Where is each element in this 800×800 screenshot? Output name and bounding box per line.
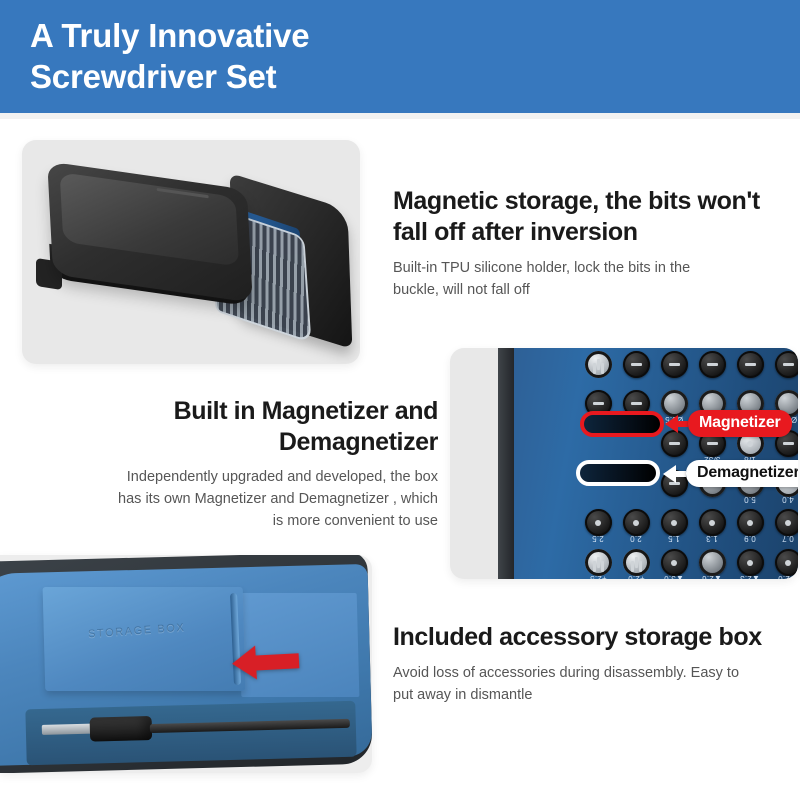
callout-label: Magnetizer <box>688 410 792 437</box>
bit-label: ▲2.0 <box>778 574 798 579</box>
bit-label: ▲3.0 <box>664 574 684 579</box>
arrow-tail-shape <box>255 653 300 670</box>
storage-lid-shape <box>43 587 246 691</box>
photo-storage-box: STORAGE BOX <box>0 555 372 773</box>
callout-magnetizer: Magnetizer <box>665 410 792 437</box>
bit-cell: ▲3.0 <box>656 544 692 579</box>
bit-label: 5.0 <box>744 495 756 504</box>
bit-label: 1.3 <box>706 534 718 543</box>
bit-cell: ▲2.0 <box>770 544 798 579</box>
bit-label: 0.7 <box>782 534 794 543</box>
bit-cell: ▲2.3 <box>732 544 768 579</box>
bit-cell <box>618 348 654 383</box>
bit-label: ▲2.3 <box>740 574 760 579</box>
section-heading: Magnetic storage, the bits won't fall of… <box>393 186 785 248</box>
bit-cell: 0.7 <box>770 505 798 542</box>
arrow-tail-shape <box>674 471 686 477</box>
driver-slot-shape <box>25 701 356 766</box>
section-body: Independently upgraded and developed, th… <box>48 466 438 532</box>
section-heading: Included accessory storage box <box>393 622 785 653</box>
case-seam-shape <box>156 188 208 198</box>
driver-shaft-shape <box>42 724 94 735</box>
bit-label: 4.0 <box>782 495 794 504</box>
driver-handle-shape <box>90 716 153 742</box>
bit-cell <box>694 348 730 383</box>
page-header: A Truly Innovative Screwdriver Set <box>0 0 800 113</box>
magnetizer-slot <box>580 411 664 437</box>
bit-cell: 1.3 <box>694 505 730 542</box>
bit-tray-shape: Ø5.5 Ø5.0 Ø4.5 Ø4.0 3/32 1/8 5.0 4.0 2.5… <box>498 348 798 579</box>
bit-cell: 2.0 <box>618 505 654 542</box>
bit-cell: ▲2.6 <box>694 544 730 579</box>
callout-demagnetizer: Demagnetizer <box>663 460 798 487</box>
bit-cell <box>732 348 768 383</box>
section-built-in-magnetizer: Built in Magnetizer and Demagnetizer Ind… <box>48 396 438 532</box>
demagnetizer-slot <box>576 460 660 486</box>
driver-rod-shape <box>150 719 350 733</box>
section-magnetic-storage: Magnetic storage, the bits won't fall of… <box>393 186 785 301</box>
bit-label: 0.9 <box>744 534 756 543</box>
arrow-left-icon <box>231 643 300 680</box>
bit-label: 1.5 <box>668 534 680 543</box>
section-accessory-storage-box: Included accessory storage box Avoid los… <box>393 622 785 706</box>
bit-cell: 1.5 <box>656 505 692 542</box>
bit-cell: +2.5 <box>580 544 616 579</box>
case-lid-shape <box>60 172 239 267</box>
bit-label: 2.0 <box>630 534 642 543</box>
bit-cell <box>580 348 616 383</box>
section-body: Avoid loss of accessories during disasse… <box>393 662 785 706</box>
bit-label: +2.0 <box>628 574 645 579</box>
photo-inverted-case <box>22 140 360 364</box>
bit-cell: +2.0 <box>618 544 654 579</box>
header-divider <box>0 113 800 119</box>
bit-label: +2.5 <box>590 574 607 579</box>
arrow-head-shape <box>231 646 257 681</box>
section-heading: Built in Magnetizer and Demagnetizer <box>48 396 438 458</box>
bit-label: ▲2.6 <box>702 574 722 579</box>
bit-cell: 0.9 <box>732 505 768 542</box>
bit-cell <box>656 348 692 383</box>
tray-edge-shape <box>498 348 514 579</box>
bit-cell <box>770 348 798 383</box>
section-body: Built-in TPU silicone holder, lock the b… <box>393 257 785 301</box>
page-title: A Truly Innovative Screwdriver Set <box>30 15 550 97</box>
bit-label: 2.5 <box>592 534 604 543</box>
arrow-tail-shape <box>676 421 688 427</box>
photo-magnetizer-tray: Ø5.5 Ø5.0 Ø4.5 Ø4.0 3/32 1/8 5.0 4.0 2.5… <box>450 348 798 579</box>
callout-label: Demagnetizer <box>686 460 798 487</box>
bit-cell: 2.5 <box>580 505 616 542</box>
